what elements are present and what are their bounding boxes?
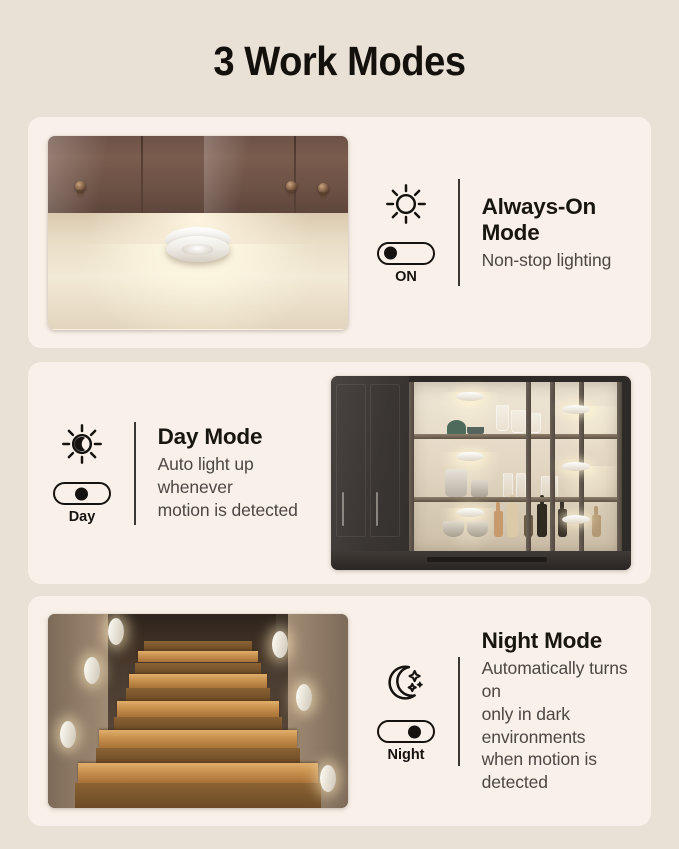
- counter-rail: [427, 557, 547, 562]
- cabinet-mullion: [550, 382, 555, 557]
- cabinet-knob: [286, 181, 297, 192]
- jar: [511, 410, 526, 433]
- toggle-label-night: Night: [387, 747, 424, 763]
- mode-icon-column: Day: [40, 421, 124, 525]
- mode-text-column: Day Mode Auto light up whenever motion i…: [158, 424, 331, 522]
- bottle: [507, 504, 518, 537]
- puck-light: [562, 405, 590, 414]
- puck-light: [562, 515, 590, 524]
- mode-title-night: Night Mode: [482, 628, 651, 654]
- lit-staircase-photo: [48, 614, 348, 808]
- puck-light: [296, 684, 312, 711]
- cabinet-knob: [75, 181, 86, 192]
- bowl: [467, 521, 488, 537]
- sun-icon: [383, 181, 429, 231]
- mode-description-always-on: Non-stop lighting: [482, 249, 651, 272]
- mode-card-always-on: ON Always-On Mode Non-stop lighting: [28, 117, 651, 348]
- toggle-label-on: ON: [395, 269, 417, 285]
- page-title: 3 Work Modes: [24, 38, 655, 85]
- shelf: [409, 434, 622, 439]
- mode-text-column: Night Mode Automatically turns on only i…: [482, 628, 651, 795]
- sun-moon-icon: [59, 421, 105, 471]
- mode-description-night: Automatically turns on only in dark envi…: [482, 657, 651, 795]
- puck-light: [456, 508, 484, 517]
- adjacent-cabinet: [331, 376, 409, 570]
- puck-light: [108, 618, 124, 645]
- puck-light: [84, 657, 100, 684]
- stair-tread: [129, 674, 267, 688]
- mode-info-day: Day Day Mode Auto light up whenever moti…: [28, 421, 331, 525]
- stair-riser: [135, 663, 261, 675]
- ceramic-vase: [445, 469, 466, 497]
- stair-tread: [99, 730, 297, 747]
- vertical-divider: [458, 179, 460, 286]
- cabinet-mullion: [526, 382, 531, 557]
- vertical-divider: [458, 657, 460, 766]
- light-cone: [558, 466, 620, 512]
- mode-toggle-night[interactable]: [377, 720, 435, 743]
- mode-description-day: Auto light up whenever motion is detecte…: [158, 453, 331, 522]
- stair-tread: [78, 763, 318, 782]
- mode-icon-column: ON: [364, 181, 448, 285]
- bottle: [494, 511, 503, 537]
- stair-tread: [138, 651, 258, 663]
- under-cabinet-puck-light-photo: [48, 136, 348, 330]
- toggle-label-day: Day: [69, 509, 96, 525]
- puck-light: [456, 452, 484, 461]
- puck-light: [166, 227, 231, 265]
- toggle-knob[interactable]: [384, 247, 397, 260]
- bottle: [592, 515, 601, 538]
- bottle: [537, 504, 548, 537]
- mode-icon-column: Night: [364, 659, 448, 763]
- mode-toggle-day[interactable]: [53, 482, 111, 505]
- stem-glass: [516, 473, 527, 499]
- cabinet-knob: [318, 183, 329, 194]
- glass-cabinet-case: [409, 382, 622, 557]
- mode-title-always-on: Always-On Mode: [482, 194, 651, 246]
- cabinet-mullion: [409, 382, 414, 557]
- bottle: [558, 509, 567, 537]
- shelf: [409, 497, 622, 502]
- mode-title-day: Day Mode: [158, 424, 331, 450]
- stair-riser: [75, 783, 321, 808]
- stair-riser: [114, 717, 282, 731]
- cabinet-doors: [48, 136, 348, 214]
- puck-light: [272, 631, 288, 658]
- toggle-knob[interactable]: [408, 725, 421, 738]
- mode-card-night: Night Night Mode Automatically turns on …: [28, 596, 651, 826]
- toggle-knob[interactable]: [75, 487, 88, 500]
- stair-riser: [144, 641, 252, 651]
- mode-card-day: Day Day Mode Auto light up whenever moti…: [28, 362, 651, 584]
- glass-cabinet-shelves-photo: [331, 376, 631, 570]
- moon-stars-icon: [383, 659, 429, 709]
- ceramic-pot: [471, 480, 488, 497]
- stair-riser: [126, 688, 270, 702]
- puck-light: [60, 721, 76, 748]
- mode-toggle-always-on[interactable]: [377, 242, 435, 265]
- stem-glass: [496, 405, 509, 431]
- stair-tread: [117, 701, 279, 717]
- stair-riser: [96, 748, 300, 764]
- cabinet-mullion: [617, 382, 622, 557]
- mode-text-column: Always-On Mode Non-stop lighting: [482, 194, 651, 272]
- vertical-divider: [134, 422, 136, 525]
- mode-info-night: Night Night Mode Automatically turns on …: [348, 628, 651, 795]
- mode-info-always-on: ON Always-On Mode Non-stop lighting: [348, 179, 651, 286]
